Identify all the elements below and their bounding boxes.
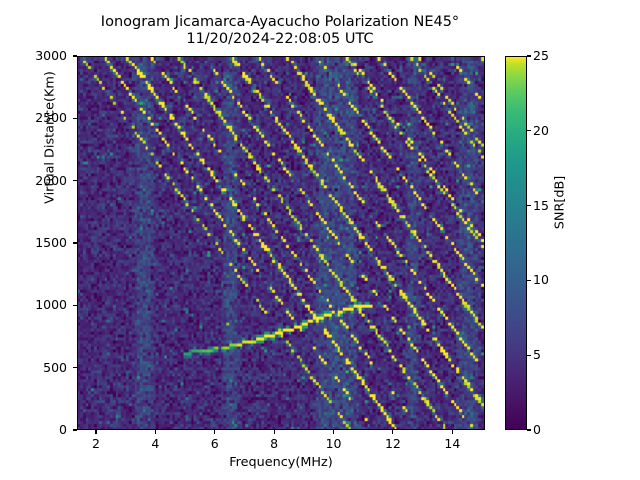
x-tick	[392, 430, 393, 434]
y-tick-label: 500	[23, 360, 67, 375]
title-line-1: Ionogram Jicamarca-Ayacucho Polarization…	[0, 14, 560, 31]
x-axis-label: Frequency(MHz)	[77, 455, 485, 470]
colorbar-tick	[527, 429, 531, 430]
y-tick	[73, 242, 77, 243]
colorbar-tick	[527, 130, 531, 131]
colorbar-tick-label: 25	[533, 48, 549, 63]
ionogram-figure: Ionogram Jicamarca-Ayacucho Polarization…	[0, 0, 640, 480]
colorbar-tick	[527, 55, 531, 56]
x-tick	[274, 430, 275, 434]
x-tick	[214, 430, 215, 434]
title-line-2: 11/20/2024-22:08:05 UTC	[0, 31, 560, 48]
x-tick-label: 14	[432, 436, 472, 451]
y-tick-label: 2000	[23, 173, 67, 188]
colorbar-tick	[527, 205, 531, 206]
ionogram-heatmap-canvas	[78, 57, 484, 429]
colorbar-tick-label: 0	[533, 422, 541, 437]
x-tick-label: 12	[373, 436, 413, 451]
x-tick-label: 10	[314, 436, 354, 451]
y-tick	[73, 180, 77, 181]
y-tick-label: 1000	[23, 297, 67, 312]
y-tick-label: 2500	[23, 110, 67, 125]
colorbar	[505, 56, 527, 430]
x-tick-label: 6	[195, 436, 235, 451]
colorbar-tick-label: 10	[533, 272, 549, 287]
colorbar-tick	[527, 355, 531, 356]
x-tick-label: 2	[76, 436, 116, 451]
x-tick-label: 8	[254, 436, 294, 451]
y-tick-label: 3000	[23, 48, 67, 63]
colorbar-tick-label: 5	[533, 347, 541, 362]
colorbar-tick	[527, 280, 531, 281]
y-tick	[73, 55, 77, 56]
x-tick	[333, 430, 334, 434]
x-tick	[95, 430, 96, 434]
y-tick	[73, 118, 77, 119]
y-tick	[73, 367, 77, 368]
y-tick-label: 0	[23, 422, 67, 437]
colorbar-tick-label: 15	[533, 198, 549, 213]
x-tick-label: 4	[135, 436, 175, 451]
y-tick-label: 1500	[23, 235, 67, 250]
colorbar-tick-label: 20	[533, 123, 549, 138]
x-tick	[452, 430, 453, 434]
y-tick	[73, 305, 77, 306]
ionogram-plot-area	[77, 56, 485, 430]
x-tick	[155, 430, 156, 434]
colorbar-label: SNR[dB]	[553, 123, 568, 283]
page-title: Ionogram Jicamarca-Ayacucho Polarization…	[0, 14, 560, 48]
y-tick	[73, 429, 77, 430]
